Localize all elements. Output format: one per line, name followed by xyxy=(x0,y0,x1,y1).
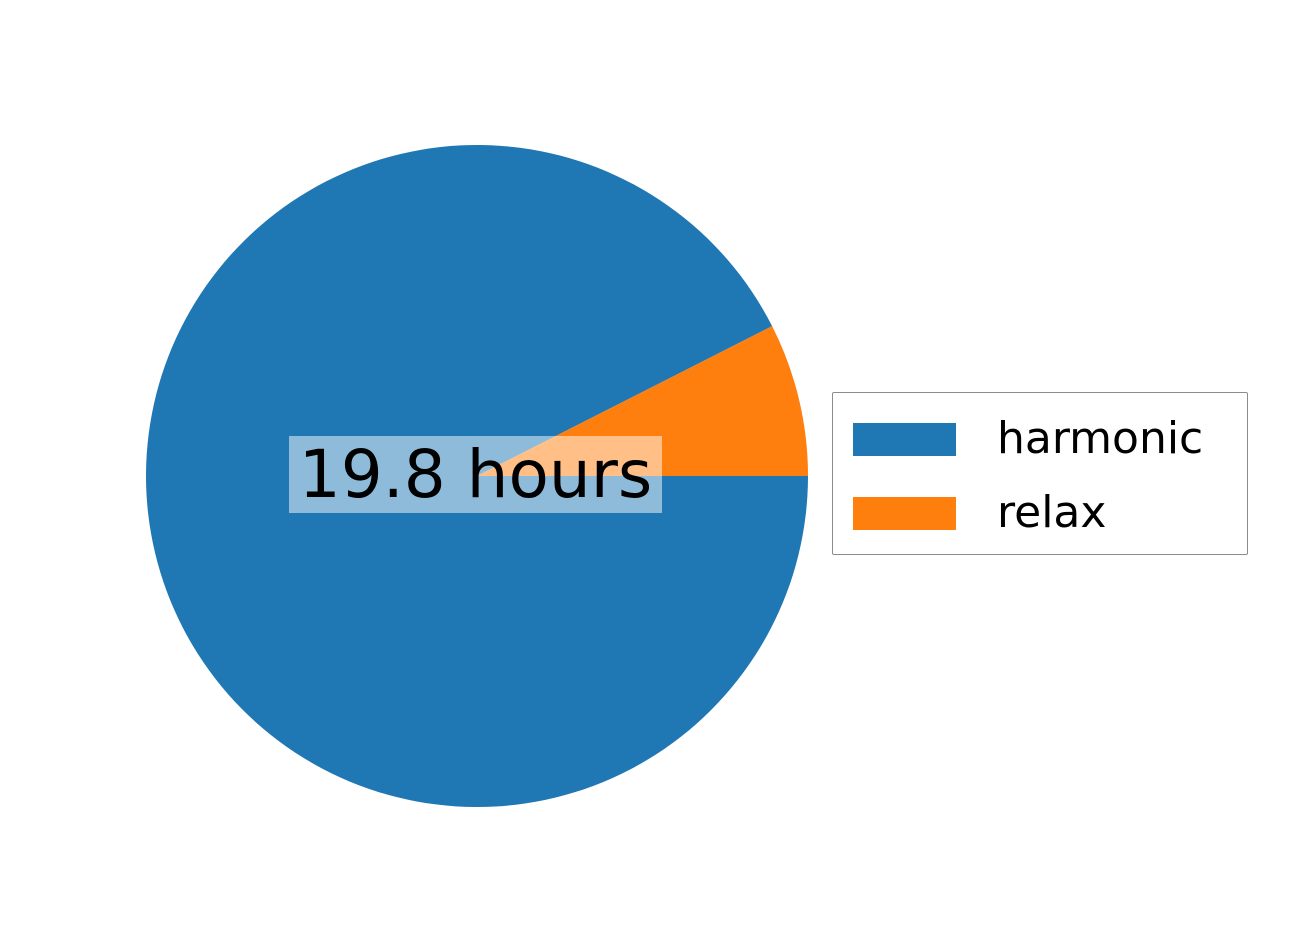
legend-swatch-relax xyxy=(853,497,956,530)
legend-item-relax[interactable]: relax xyxy=(833,485,1247,541)
slice-label-harmonic: 19.8 hours xyxy=(289,436,662,513)
legend-swatch-harmonic xyxy=(853,423,956,456)
pie-chart-figure: 19.8 hours harmonic relax xyxy=(0,0,1307,951)
legend-box: harmonic relax xyxy=(832,392,1248,555)
legend-item-harmonic[interactable]: harmonic xyxy=(833,411,1247,467)
legend-label-harmonic: harmonic xyxy=(997,411,1203,467)
legend-label-relax: relax xyxy=(997,485,1106,541)
